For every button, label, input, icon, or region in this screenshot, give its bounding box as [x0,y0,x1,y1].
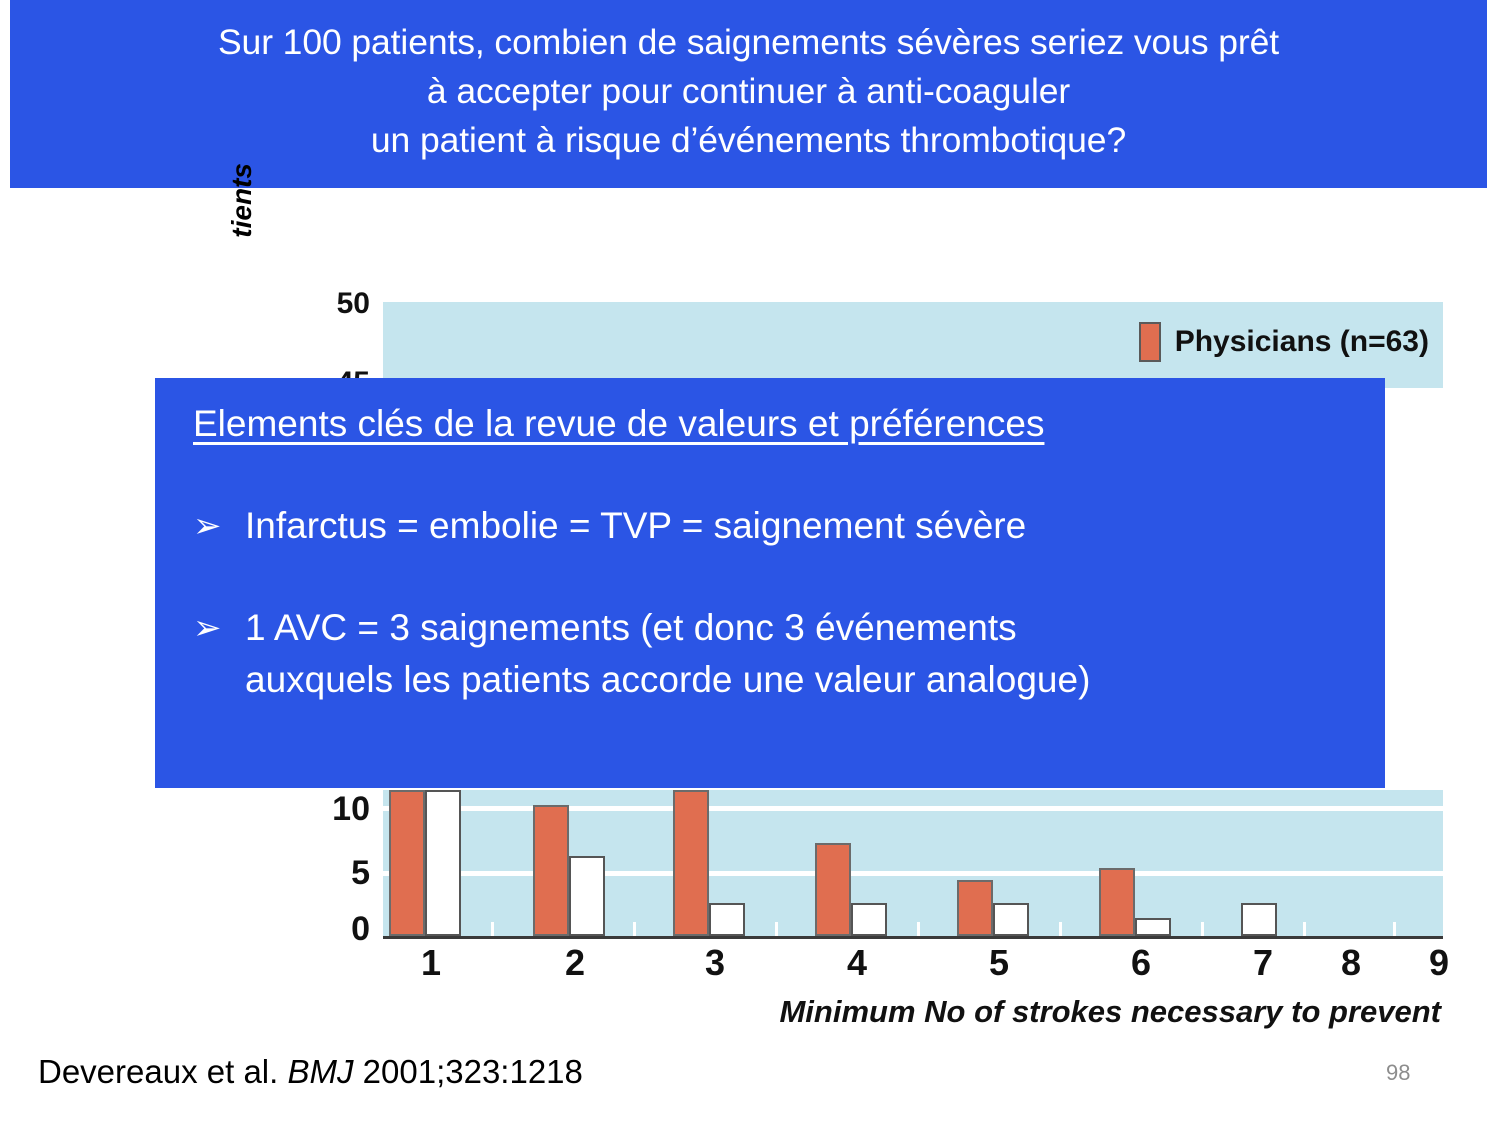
x-tick-label-9: 9 [1429,942,1449,984]
bar-group-2 [533,790,605,936]
y-tick-label-10: 10 [298,792,370,826]
x-tick-mark-1b [491,922,494,936]
chart-y-axis-label: tients [226,163,256,283]
x-tick-mark-9b [1479,922,1482,936]
x-tick-label-6: 6 [1131,942,1151,984]
x-tick-label-7: 7 [1253,942,1273,984]
slide-title-banner: Sur 100 patients, combien de saignements… [10,0,1487,188]
chart-legend: Physicians (n=63) [1139,322,1429,362]
y-tick-label-5: 5 [298,856,370,890]
bar-patients-3 [709,903,745,936]
bar-physicians-5 [957,880,993,936]
x-tick-mark-8b [1393,922,1396,936]
citation-journal: BMJ [287,1053,353,1090]
bar-physicians-6 [1099,868,1135,936]
key-point-text-2: 1 AVC = 3 saignements (et donc 3 événeme… [245,602,1351,706]
bar-patients-6 [1135,918,1171,936]
key-points-heading: Elements clés de la revue de valeurs et … [193,400,1351,448]
bar-group-5 [957,790,1029,936]
bar-patients-2 [569,856,605,936]
chart-x-axis-line [383,936,1443,939]
x-tick-mark-7b [1303,922,1306,936]
x-tick-mark-6b [1201,922,1204,936]
bar-group-4 [815,790,887,936]
x-tick-mark-5b [1059,922,1062,936]
bar-physicians-1 [389,790,425,936]
bullet-arrow-icon-2: ➢ [193,602,245,654]
x-tick-mark-4b [917,922,920,936]
bar-patients-1 [425,790,461,936]
chart-x-tick-labels: 1 2 3 4 5 6 7 8 9 10 11 [383,942,1443,990]
x-tick-label-5: 5 [989,942,1009,984]
key-point-text-2-line-1: 1 AVC = 3 saignements (et donc 3 événeme… [245,602,1351,654]
key-point-item-2: ➢ 1 AVC = 3 saignements (et donc 3 événe… [193,602,1351,706]
title-line-1: Sur 100 patients, combien de saignements… [218,18,1279,67]
bullet-arrow-icon-1: ➢ [193,500,245,552]
y-tick-label-0: 0 [298,912,370,946]
x-tick-label-3: 3 [705,942,725,984]
key-point-text-2-line-2: auxquels les patients accorde une valeur… [245,654,1351,706]
citation-author: Devereaux et al. [38,1053,278,1090]
key-point-item-1: ➢ Infarctus = embolie = TVP = saignement… [193,500,1351,552]
bar-group-6 [1099,790,1171,936]
chart-lower-region: 10 5 0 [240,790,1315,1023]
x-tick-mark-3b [775,922,778,936]
legend-label-physicians: Physicians (n=63) [1175,325,1429,359]
chart-panel-top: Physicians (n=63) [383,302,1443,388]
bar-physicians-2 [533,805,569,936]
x-tick-label-2: 2 [565,942,585,984]
key-point-text-1: Infarctus = embolie = TVP = saignement s… [245,500,1351,552]
bar-group-3 [673,790,745,936]
page-number: 98 [1386,1060,1410,1086]
y-tick-label-50: 50 [308,287,370,321]
bar-patients-5 [993,903,1029,936]
citation: Devereaux et al. BMJ 2001;323:1218 [38,1053,583,1091]
title-line-3: un patient à risque d’événements thrombo… [371,116,1126,165]
key-points-box: Elements clés de la revue de valeurs et … [155,378,1385,788]
bar-group-7 [1241,790,1277,936]
bar-patients-4 [851,903,887,936]
legend-swatch-physicians [1139,322,1161,362]
bar-patients-7 [1241,903,1277,936]
bar-group-1 [389,790,461,936]
chart-x-axis-title: Minimum No of strokes necessary to preve… [383,994,1443,1030]
x-tick-mark-2b [633,922,636,936]
bar-physicians-3 [673,790,709,936]
citation-reference: 2001;323:1218 [363,1053,583,1090]
x-tick-label-1: 1 [421,942,441,984]
x-tick-label-4: 4 [847,942,867,984]
x-tick-label-8: 8 [1341,942,1361,984]
bar-physicians-4 [815,843,851,936]
chart-bars [383,790,1443,936]
title-line-2: à accepter pour continuer à anti-coagule… [427,67,1070,116]
